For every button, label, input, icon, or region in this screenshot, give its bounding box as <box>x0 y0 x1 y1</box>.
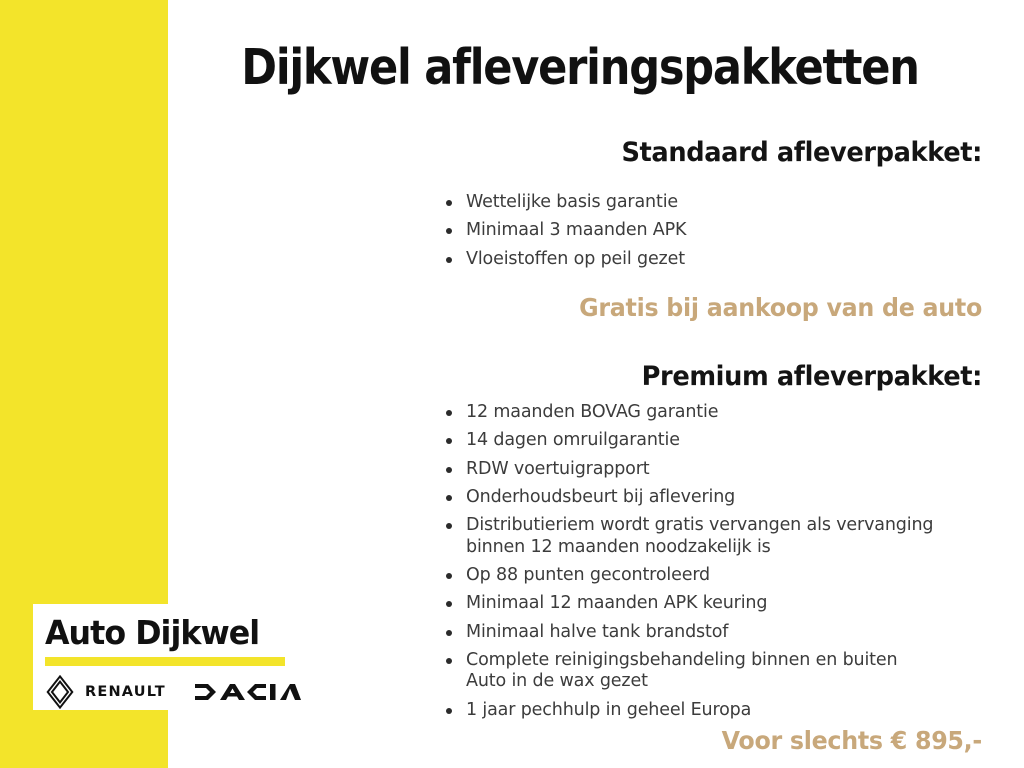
list-item: RDW voertuigrapport <box>430 459 982 480</box>
list-item-label: Op 88 punten gecontroleerd <box>466 565 710 585</box>
brand-logos-row: RENAULT <box>45 675 284 709</box>
dealer-logo-card: Auto Dijkwel RENAULT <box>33 604 296 710</box>
list-item-label: 14 dagen omruilgarantie <box>466 430 680 450</box>
premium-package-list: 12 maanden BOVAG garantie 14 dagen omrui… <box>430 402 982 721</box>
standard-package-heading-wrapper: Standaard afleverpakket: <box>430 137 982 168</box>
list-item-label: Minimaal 3 maanden APK <box>466 220 686 240</box>
list-item-label: Wettelijke basis garantie <box>466 192 678 212</box>
list-item: Minimaal 3 maanden APK <box>430 220 982 241</box>
standard-package-heading: Standaard afleverpakket: <box>458 137 982 168</box>
list-item-label: Vloeistoffen op peil gezet <box>466 249 685 269</box>
list-item-label: Distributieriem wordt gratis vervangen a… <box>466 515 933 535</box>
list-item-label-continued: Auto in de wax gezet <box>466 671 982 692</box>
logo-yellow-rule <box>45 657 285 666</box>
standard-package-tagline-wrapper: Gratis bij aankoop van de auto <box>430 293 982 322</box>
list-item-label: Minimaal 12 maanden APK keuring <box>466 593 767 613</box>
renault-diamond-icon <box>45 675 75 709</box>
premium-package-heading-wrapper: Premium afleverpakket: <box>430 361 982 392</box>
list-item: Distributieriem wordt gratis vervangen a… <box>430 515 982 558</box>
list-item: Vloeistoffen op peil gezet <box>430 249 982 270</box>
list-item-label: 1 jaar pechhulp in geheel Europa <box>466 700 751 720</box>
premium-price-wrapper: Voor slechts € 895,- <box>430 726 982 755</box>
list-item-label: Complete reinigingsbehandeling binnen en… <box>466 650 897 670</box>
poster-canvas: Dijkwel afleveringspakketten Standaard a… <box>0 0 1024 768</box>
renault-wordmark: RENAULT <box>85 685 166 700</box>
premium-package-heading: Premium afleverpakket: <box>458 361 982 392</box>
premium-package-list-wrapper: 12 maanden BOVAG garantie 14 dagen omrui… <box>430 402 982 728</box>
list-item: 1 jaar pechhulp in geheel Europa <box>430 700 982 721</box>
page-title: Dijkwel afleveringspakketten <box>224 42 935 93</box>
list-item: 12 maanden BOVAG garantie <box>430 402 982 423</box>
list-item: Minimaal 12 maanden APK keuring <box>430 593 982 614</box>
standard-package-list-wrapper: Wettelijke basis garantie Minimaal 3 maa… <box>430 192 982 277</box>
list-item-label-continued: binnen 12 maanden noodzakelijk is <box>466 537 982 558</box>
standard-package-tagline: Gratis bij aankoop van de auto <box>458 293 982 322</box>
list-item-label: RDW voertuigrapport <box>466 459 650 479</box>
list-item: Complete reinigingsbehandeling binnen en… <box>430 650 982 693</box>
dealer-logo-wordmark: Auto Dijkwel <box>45 616 274 649</box>
list-item: Wettelijke basis garantie <box>430 192 982 213</box>
premium-price: Voor slechts € 895,- <box>458 726 982 755</box>
standard-package-list: Wettelijke basis garantie Minimaal 3 maa… <box>430 192 982 270</box>
list-item: Onderhoudsbeurt bij aflevering <box>430 487 982 508</box>
list-item: Minimaal halve tank brandstof <box>430 622 982 643</box>
list-item-label: 12 maanden BOVAG garantie <box>466 402 718 422</box>
list-item: 14 dagen omruilgarantie <box>430 430 982 451</box>
list-item-label: Onderhoudsbeurt bij aflevering <box>466 487 735 507</box>
dacia-wordmark-icon <box>194 682 302 702</box>
list-item-label: Minimaal halve tank brandstof <box>466 622 728 642</box>
list-item: Op 88 punten gecontroleerd <box>430 565 982 586</box>
